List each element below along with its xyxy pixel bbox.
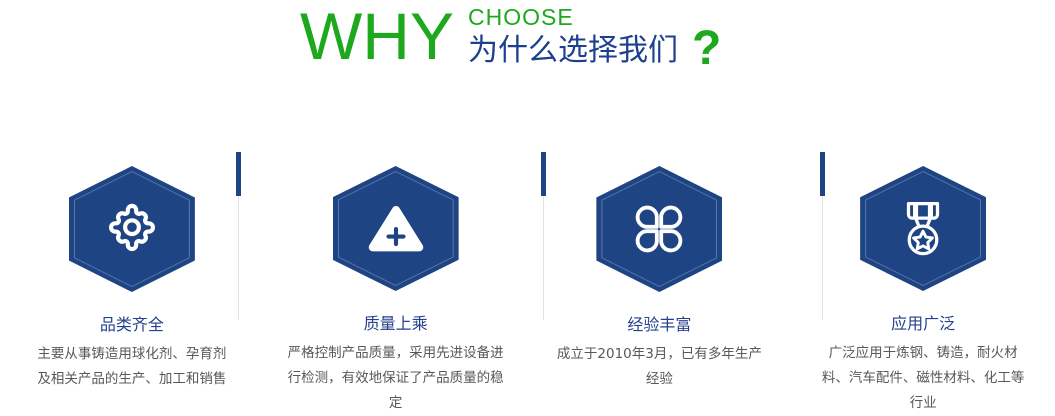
header-choose-word: CHOOSE — [468, 4, 678, 30]
four-petal-clover-icon — [596, 166, 722, 292]
section-header: WHY CHOOSE 为什么选择我们 ? — [0, 0, 1055, 95]
feature-title: 经验丰富 — [627, 314, 691, 336]
feature-title: 品类齐全 — [100, 314, 164, 336]
feature-column: 质量上乘 严格控制产品质量，采用先进设备进行检测，有效地保证了产品质量的稳定 — [264, 140, 528, 416]
feature-description: 成立于2010年3月，已有多年生产经验 — [554, 342, 764, 392]
gear-icon — [69, 166, 195, 292]
medal-icon — [860, 166, 986, 291]
feature-column: 经验丰富 成立于2010年3月，已有多年生产经验 — [528, 140, 792, 416]
hexagon-badge — [860, 166, 986, 291]
feature-columns: 品类齐全 主要从事铸造用球化剂、孕育剂及相关产品的生产、加工和销售 质量上乘 严… — [0, 140, 1055, 416]
feature-description: 严格控制产品质量，采用先进设备进行检测，有效地保证了产品质量的稳定 — [287, 341, 505, 416]
header-why-word: WHY — [300, 2, 454, 70]
hexagon-badge — [69, 166, 195, 292]
feature-description: 广泛应用于炼钢、铸造，耐火材料、汽车配件、磁性材料、化工等行业 — [816, 341, 1031, 416]
hexagon-badge — [596, 166, 722, 292]
header-title-group: WHY CHOOSE 为什么选择我们 ? — [300, 2, 721, 74]
header-text-stack: CHOOSE 为什么选择我们 — [468, 4, 678, 69]
feature-description: 主要从事铸造用球化剂、孕育剂及相关产品的生产、加工和销售 — [32, 342, 232, 392]
feature-title: 质量上乘 — [364, 313, 428, 335]
feature-title: 应用广泛 — [891, 313, 955, 335]
feature-column: 应用广泛 广泛应用于炼钢、铸造，耐火材料、汽车配件、磁性材料、化工等行业 — [791, 140, 1055, 416]
header-chinese-title: 为什么选择我们 — [468, 33, 678, 69]
hexagon-badge — [333, 166, 459, 291]
header-question-mark: ? — [692, 24, 721, 74]
feature-column: 品类齐全 主要从事铸造用球化剂、孕育剂及相关产品的生产、加工和销售 — [0, 140, 264, 416]
triangle-plus-icon — [333, 166, 459, 291]
